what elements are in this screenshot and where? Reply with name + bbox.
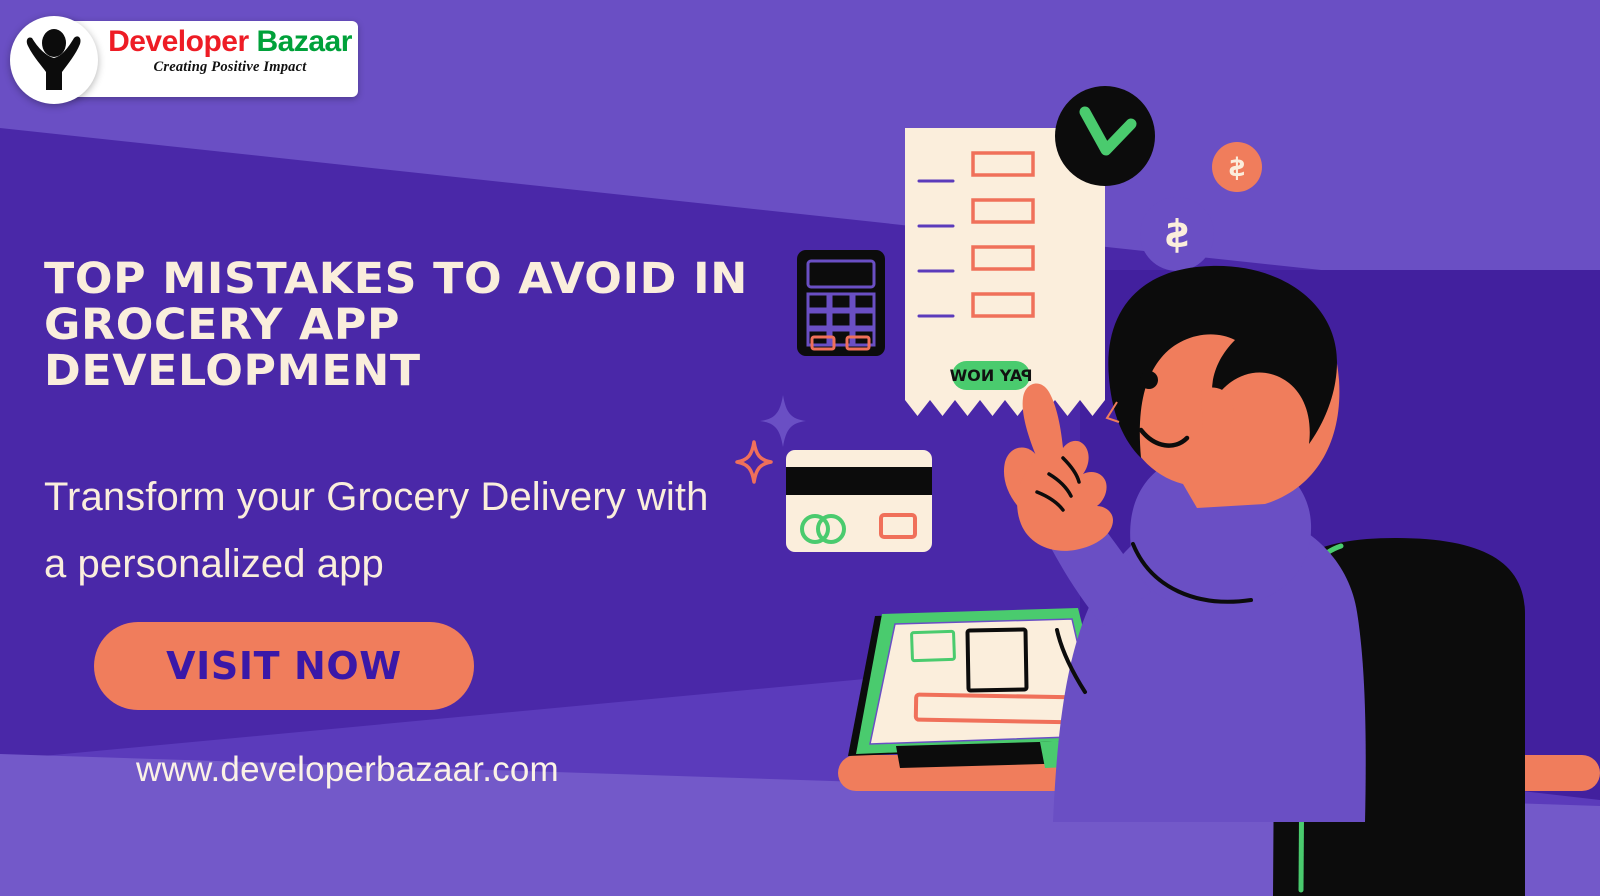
calculator bbox=[795, 248, 887, 358]
subheading: Transform your Grocery Delivery with a p… bbox=[44, 464, 724, 598]
brand-logo[interactable]: Developer Bazaar Creating Positive Impac… bbox=[10, 16, 360, 102]
checkmark-badge bbox=[1053, 84, 1157, 188]
logo-tagline: Creating Positive Impact bbox=[106, 59, 354, 76]
credit-card bbox=[786, 450, 932, 552]
website-url[interactable]: www.developerbazaar.com bbox=[136, 750, 559, 790]
coin-dollar-glyph: $ bbox=[1228, 153, 1246, 183]
coin-small-coral: $ bbox=[1212, 142, 1262, 192]
headline-line-1: TOP MISTAKES TO AVOID IN bbox=[44, 254, 748, 304]
page-title: TOP MISTAKES TO AVOID IN GROCERY APP DEV… bbox=[44, 256, 765, 394]
copy-block: TOP MISTAKES TO AVOID IN GROCERY APP DEV… bbox=[44, 256, 744, 598]
person-figure-icon bbox=[24, 28, 84, 92]
coin-large-purple: $ bbox=[1140, 197, 1214, 271]
coin-dollar-glyph: $ bbox=[1164, 212, 1190, 256]
person-character bbox=[965, 262, 1485, 822]
logo-wordmark: Developer Bazaar Creating Positive Impac… bbox=[106, 26, 354, 76]
logo-brand-first: Developer bbox=[108, 25, 249, 58]
marketing-banner: PAY NOW $ $ bbox=[0, 0, 1600, 896]
logo-brand-second: Bazaar bbox=[257, 25, 352, 58]
visit-now-button[interactable]: VISIT NOW bbox=[94, 622, 474, 710]
logo-badge bbox=[10, 16, 98, 104]
headline-line-2: GROCERY APP DEVELOPMENT bbox=[44, 300, 421, 396]
